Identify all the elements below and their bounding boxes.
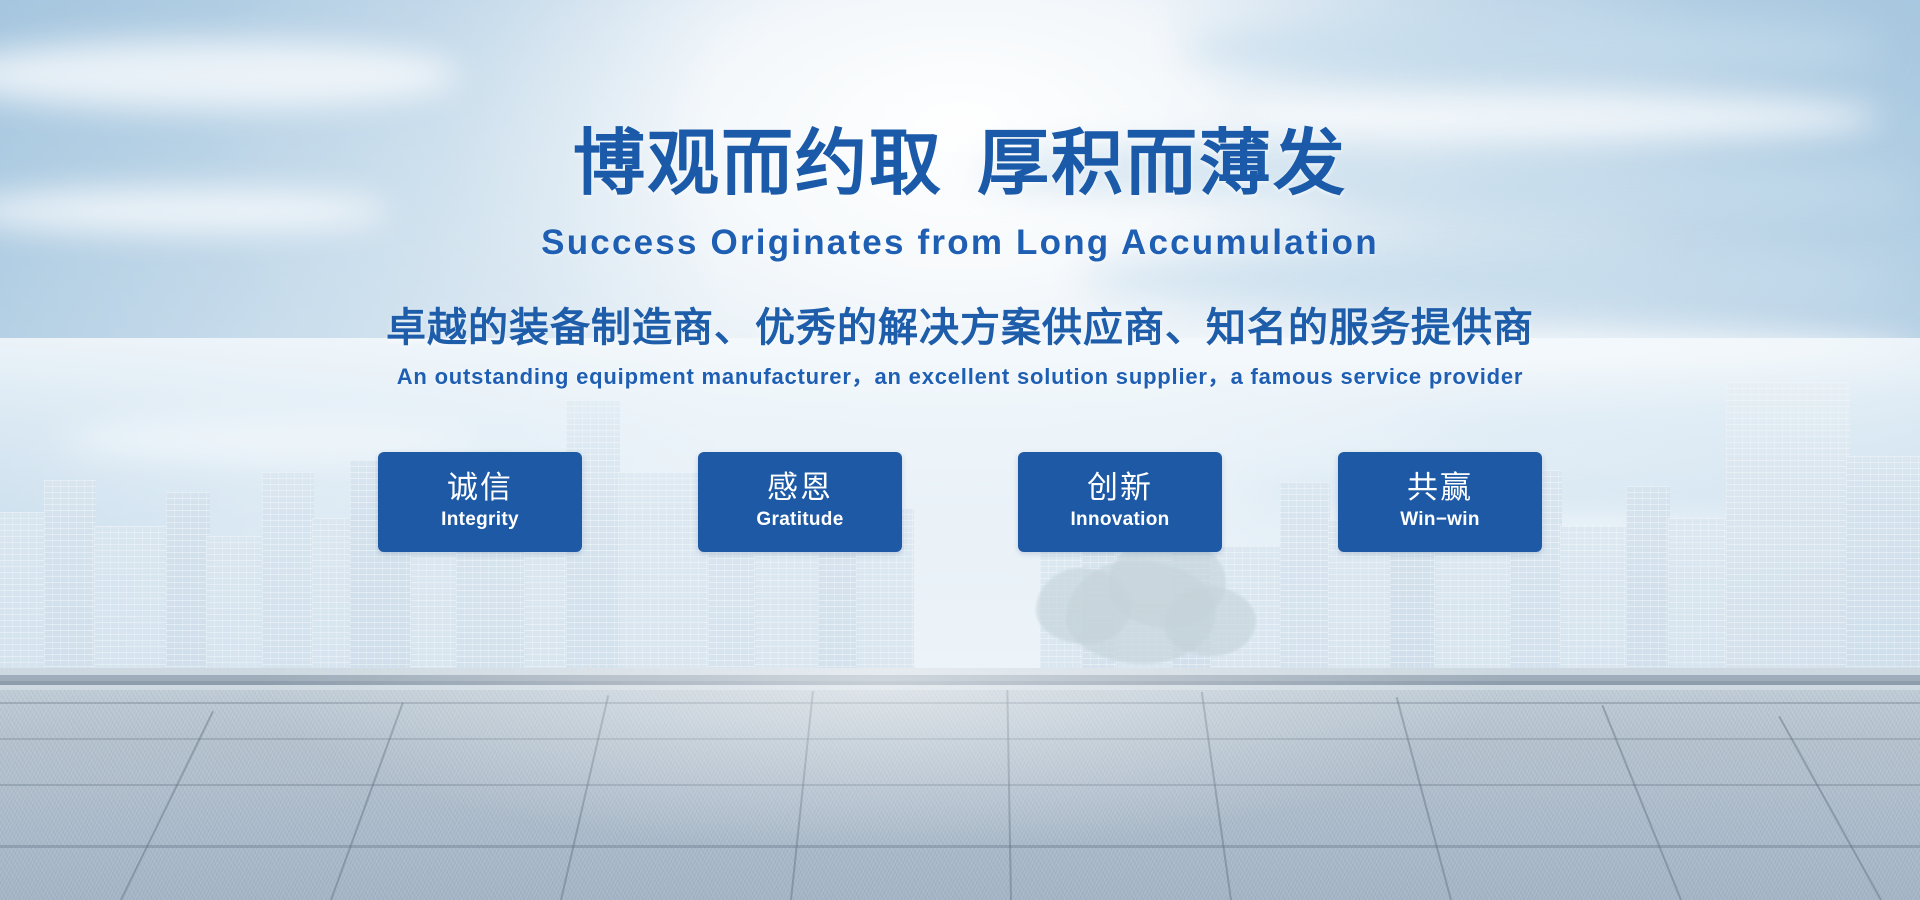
headline-chinese-part1: 博观而约取 bbox=[573, 124, 943, 204]
value-card-label-en: Win−win bbox=[1400, 508, 1480, 532]
headline-chinese: 博观而约取厚积而薄发 bbox=[0, 128, 1920, 200]
headline-chinese-part2: 厚积而薄发 bbox=[977, 124, 1347, 204]
value-card-label-en: Gratitude bbox=[756, 508, 843, 532]
value-card-label-en: Innovation bbox=[1070, 508, 1169, 532]
value-card-innovation[interactable]: 创新 Innovation bbox=[1018, 452, 1222, 552]
value-card-label-cn: 感恩 bbox=[767, 472, 833, 505]
headline-english: Success Originates from Long Accumulatio… bbox=[0, 225, 1920, 260]
core-values-list: 诚信 Integrity 感恩 Gratitude 创新 Innovation … bbox=[0, 452, 1920, 552]
value-card-winwin[interactable]: 共赢 Win−win bbox=[1338, 452, 1542, 552]
value-card-label-en: Integrity bbox=[441, 508, 519, 532]
banner-content: 博观而约取厚积而薄发 Success Originates from Long … bbox=[0, 0, 1920, 900]
value-card-gratitude[interactable]: 感恩 Gratitude bbox=[698, 452, 902, 552]
hero-banner: 博观而约取厚积而薄发 Success Originates from Long … bbox=[0, 0, 1920, 900]
subtitle-chinese: 卓越的装备制造商、优秀的解决方案供应商、知名的服务提供商 bbox=[0, 308, 1920, 348]
value-card-label-cn: 共赢 bbox=[1407, 472, 1473, 505]
subtitle-english: An outstanding equipment manufacturer，an… bbox=[0, 366, 1920, 388]
value-card-integrity[interactable]: 诚信 Integrity bbox=[378, 452, 582, 552]
value-card-label-cn: 创新 bbox=[1087, 472, 1153, 505]
value-card-label-cn: 诚信 bbox=[447, 472, 513, 505]
